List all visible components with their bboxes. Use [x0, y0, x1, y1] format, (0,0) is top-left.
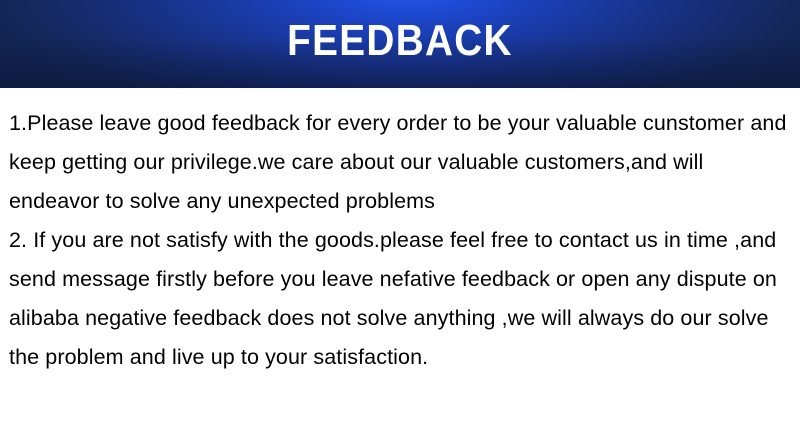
feedback-header-banner: FEEDBACK [0, 0, 800, 88]
page-title: FEEDBACK [48, 16, 752, 66]
feedback-banner-page: FEEDBACK 1.Please leave good feedback fo… [0, 0, 800, 429]
feedback-paragraph-2: 2. If you are not satisfy with the goods… [9, 221, 792, 377]
feedback-paragraph-1: 1.Please leave good feedback for every o… [9, 104, 792, 221]
feedback-policy-text: 1.Please leave good feedback for every o… [0, 88, 800, 377]
